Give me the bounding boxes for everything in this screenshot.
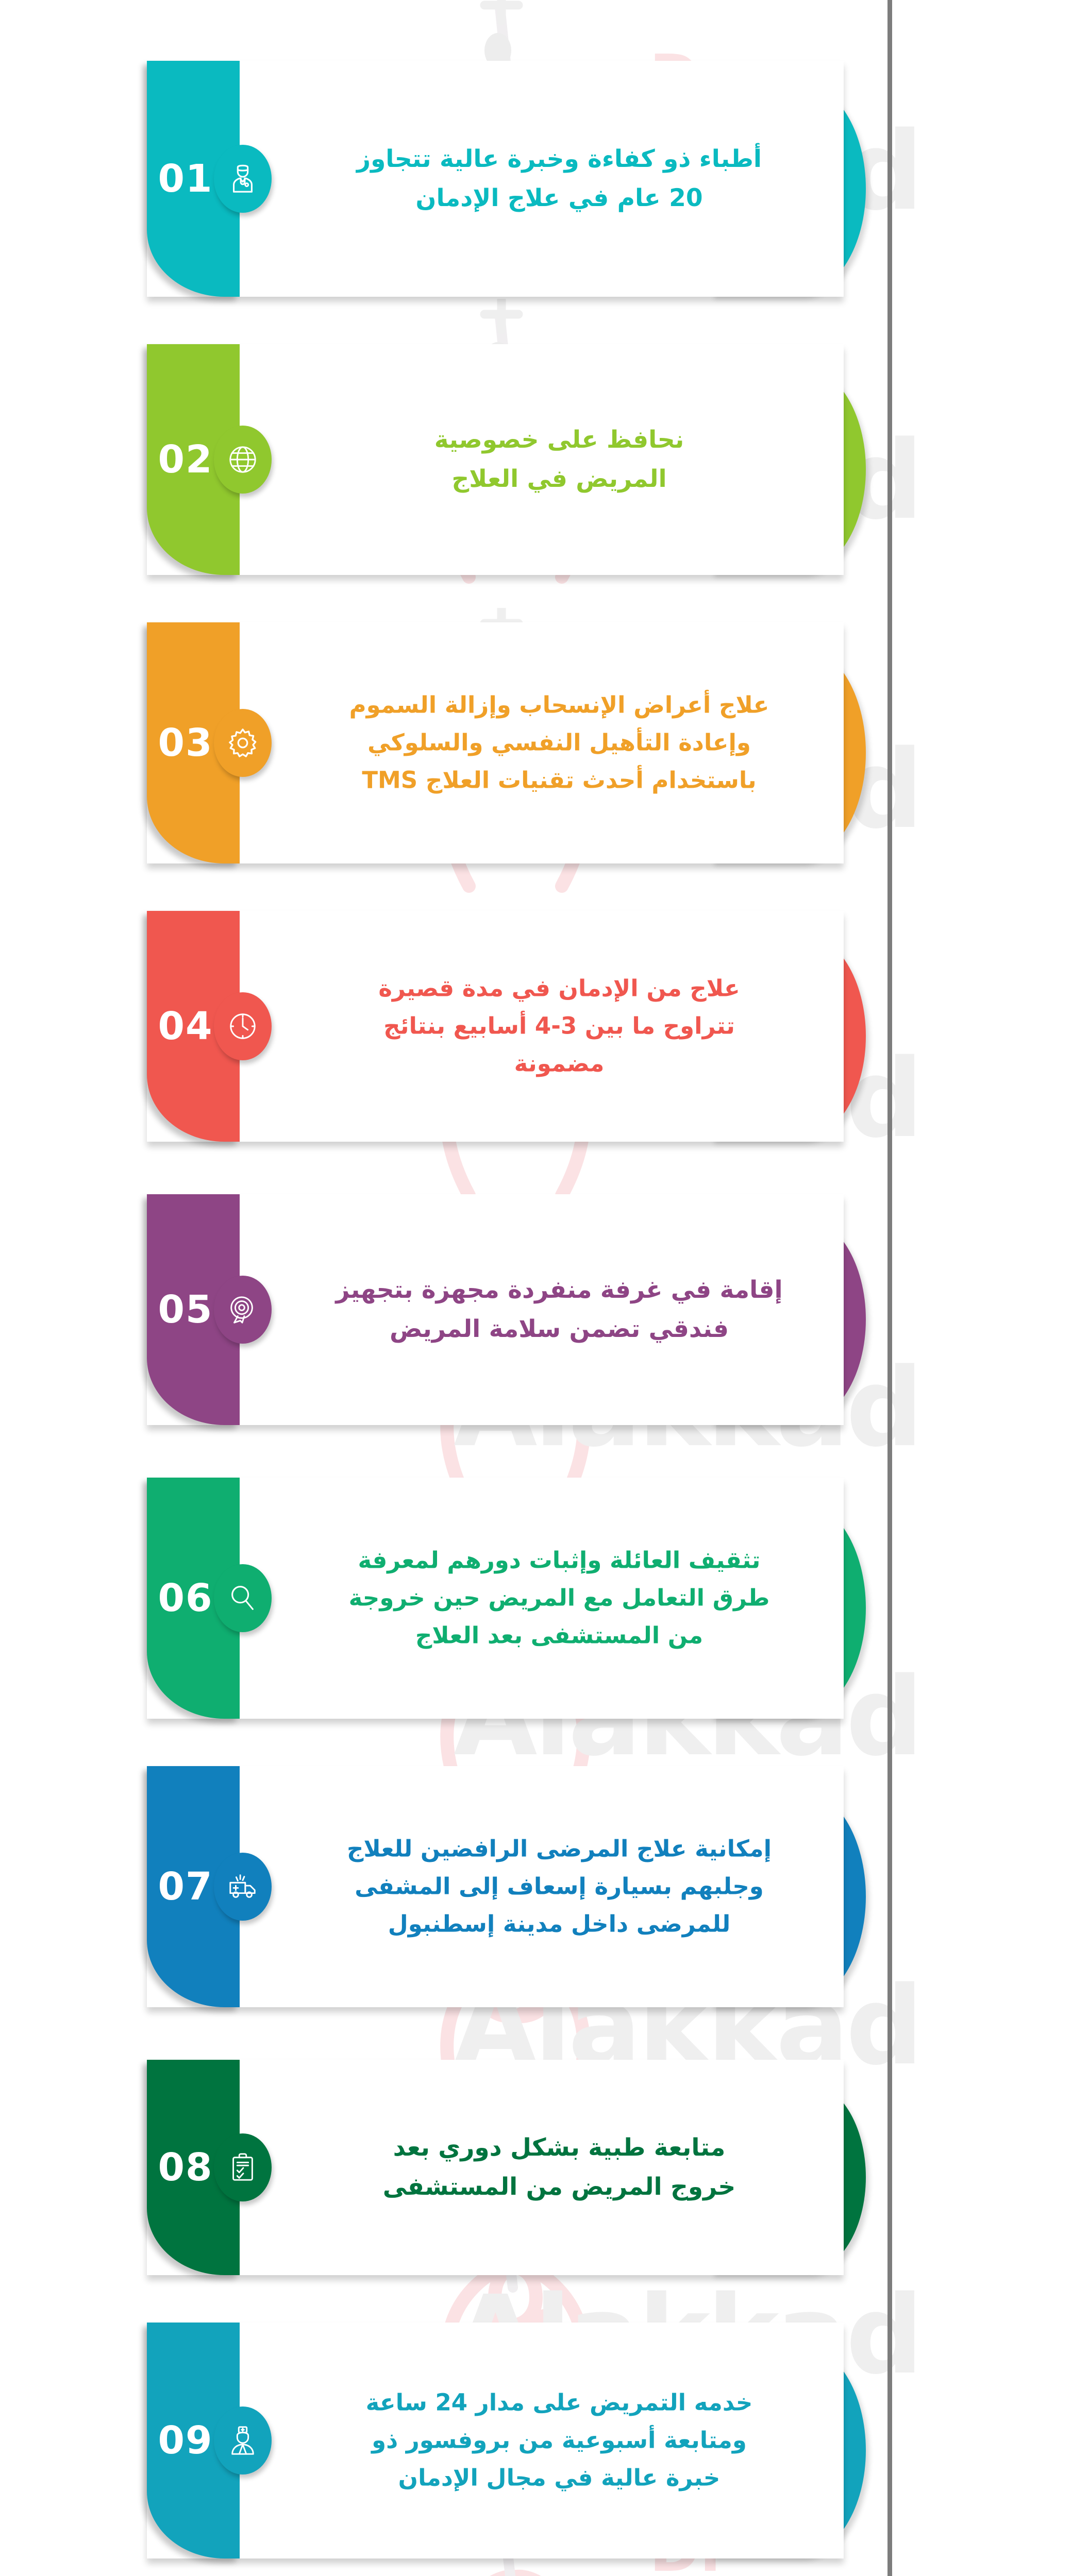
card-text: إقامة في غرفة منفردة مجهزة بتجهيزفندقي ت… — [289, 1270, 830, 1349]
doctor-icon[interactable] — [214, 145, 272, 213]
feature-card[interactable]: 06 تثقيف العائلة وإثبات دورهم لمعرفةطرق … — [0, 1478, 1072, 1719]
card-text-line: طرق التعامل مع المريض حين خروجة — [289, 1580, 830, 1617]
card-text-line: خبرة عالية في مجال الإدمان — [289, 2459, 830, 2497]
card-text: نحافظ على خصوصيةالمريض في العلاج — [289, 420, 830, 499]
vertical-spine-line — [887, 0, 892, 2576]
card-text-line: وإعادة التأهيل النفسي والسلوكي — [289, 724, 830, 762]
card-number: 04 — [155, 1004, 216, 1048]
clock-icon[interactable] — [214, 992, 272, 1060]
card-number: 09 — [155, 2418, 216, 2463]
card-text-line: من المستشفى بعد العلاج — [289, 1617, 830, 1654]
feature-card[interactable]: 09 خدمه التمريض على مدار 24 ساعةومتابعة … — [0, 2323, 1072, 2558]
card-text-line: تتراوح ما بين 3-4 أسابيع بنتائج — [289, 1008, 830, 1045]
room-icon[interactable] — [214, 1276, 272, 1344]
card-text-line: خروج المريض من المستشفى — [289, 2167, 830, 2207]
card-text-line: ومتابعة أسبوعية من بروفسور ذو — [289, 2422, 830, 2460]
card-text-line: وجلبهم بسيارة إسعاف إلى المشفى — [289, 1868, 830, 1906]
feature-card[interactable]: 02 نحافظ على خصوصيةالمريض في العلاج — [0, 344, 1072, 575]
card-text: خدمه التمريض على مدار 24 ساعةومتابعة أسب… — [289, 2384, 830, 2497]
clipboard-icon[interactable] — [214, 2133, 272, 2201]
card-text-line: علاج أعراض الإنسحاب وإزالة السموم — [289, 687, 830, 724]
card-text-line: نحافظ على خصوصية — [289, 420, 830, 460]
card-text: علاج أعراض الإنسحاب وإزالة السموموإعادة … — [289, 687, 830, 800]
card-text-line: 20 عام في علاج الإدمان — [289, 179, 830, 218]
nurse-icon[interactable] — [214, 2406, 272, 2475]
ambulance-icon[interactable] — [214, 1853, 272, 1921]
card-text-line: للمرضى داخل مدينة إسطنبول — [289, 1905, 830, 1943]
card-text-line: علاج من الإدمان في مدة قصيرة — [289, 970, 830, 1008]
card-text-line: إقامة في غرفة منفردة مجهزة بتجهيز — [289, 1270, 830, 1310]
card-text-line: باستخدام أحدث تقنيات العلاج TMS — [289, 761, 830, 799]
feature-card[interactable]: 04 علاج من الإدمان في مدة قصيرةتتراوح ما… — [0, 911, 1072, 1142]
card-number: 03 — [155, 721, 216, 765]
card-number: 01 — [155, 157, 216, 201]
feature-card[interactable]: 05 إقامة في غرفة منفردة مجهزة بتجهيزفندق… — [0, 1194, 1072, 1425]
gear-icon[interactable] — [214, 709, 272, 777]
feature-card[interactable]: 01 أطباء ذو كفاءة وخبرة عالية تتجاوز20 ع… — [0, 61, 1072, 297]
feature-card[interactable]: 08 متابعة طبية بشكل دوري بعدخروج المريض … — [0, 2060, 1072, 2275]
card-number: 05 — [155, 1287, 216, 1332]
card-text-line: فندقي تضمن سلامة المريض — [289, 1310, 830, 1349]
card-text-line: متابعة طبية بشكل دوري بعد — [289, 2128, 830, 2167]
card-text-line: إمكانية علاج المرضى الرافضين للعلاج — [289, 1831, 830, 1868]
card-number: 06 — [155, 1576, 216, 1620]
feature-card[interactable]: 03 علاج أعراض الإنسحاب وإزالة السموموإعا… — [0, 622, 1072, 863]
magnifier-icon[interactable] — [214, 1564, 272, 1632]
card-number: 02 — [155, 437, 216, 482]
globe-icon[interactable] — [214, 426, 272, 494]
card-number: 07 — [155, 1865, 216, 1909]
card-text-line: تثقيف العائلة وإثبات دورهم لمعرفة — [289, 1542, 830, 1580]
card-text: علاج من الإدمان في مدة قصيرةتتراوح ما بي… — [289, 970, 830, 1083]
card-text: متابعة طبية بشكل دوري بعدخروج المريض من … — [289, 2128, 830, 2207]
card-text-line: أطباء ذو كفاءة وخبرة عالية تتجاوز — [289, 140, 830, 179]
infographic-page: DrAlakkad DrAlakkad DrAlakkad DrAlakkad … — [0, 0, 1072, 2576]
card-text: تثقيف العائلة وإثبات دورهم لمعرفةطرق الت… — [289, 1542, 830, 1655]
card-number: 08 — [155, 2145, 216, 2190]
card-text-line: مضمونة — [289, 1045, 830, 1082]
feature-card[interactable]: 07 إمكانية علاج المرضى الرافضين للعلاجوج… — [0, 1766, 1072, 2007]
card-text-line: خدمه التمريض على مدار 24 ساعة — [289, 2384, 830, 2422]
card-text: إمكانية علاج المرضى الرافضين للعلاجوجلبه… — [289, 1831, 830, 1943]
card-text-line: المريض في العلاج — [289, 460, 830, 499]
card-text: أطباء ذو كفاءة وخبرة عالية تتجاوز20 عام … — [289, 140, 830, 218]
